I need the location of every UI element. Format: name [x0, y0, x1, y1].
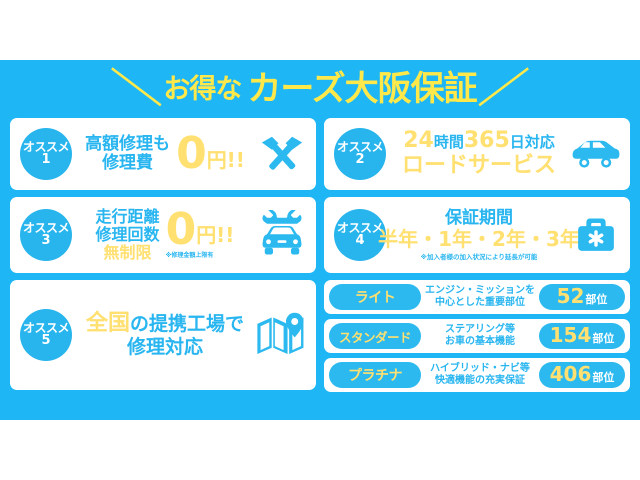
car-wrench-icon: [254, 210, 310, 260]
feature-4-line1: 保証期間: [378, 209, 580, 228]
crossed-hammers-icon: [254, 131, 310, 177]
feature-row-3: オススメ 5 全国の提携工場で 修理対応: [10, 280, 630, 392]
feature-2-line2: ロードサービス: [402, 154, 556, 179]
feature-row-1: オススメ 1 高額修理も 修理費 0 円!!: [10, 118, 630, 190]
feature-1-amount-number: 0: [176, 135, 207, 172]
plan-description-line2: 快適機能の充実保証: [425, 375, 535, 387]
feature-2-line1: 24時間365日対応: [402, 129, 556, 154]
feature-5-line1: 全国の提携工場で: [86, 312, 244, 337]
plan-row-standard[interactable]: スタンダード ステアリング等 お車の基本機能 154 部位: [324, 319, 630, 353]
feature-3-note: ※修理金額上限有: [166, 250, 214, 259]
badge-number: 1: [41, 153, 50, 167]
feature-card-1: オススメ 1 高額修理も 修理費 0 円!!: [10, 118, 316, 190]
feature-card-5: オススメ 5 全国の提携工場で 修理対応: [10, 280, 316, 390]
title-main: カーズ大阪保証: [247, 72, 476, 106]
feature-5-line1-rest: の提携工場で: [130, 313, 244, 335]
feature-3-text: 走行距離 修理回数 無制限: [96, 208, 160, 262]
recommend-badge-2: オススメ 2: [334, 128, 386, 180]
plan-coverage-count: 406 部位: [539, 362, 625, 388]
feature-card-5-body: 全国の提携工場で 修理対応: [76, 312, 254, 358]
plan-row-light[interactable]: ライト エンジン・ミッションを 中心とした重要部位 52 部位: [324, 280, 630, 314]
feature-2-hours: 24: [403, 128, 434, 153]
plan-description-line2: 中心とした重要部位: [425, 297, 535, 309]
plan-coverage-count: 154 部位: [539, 323, 625, 349]
feature-4-line2: 半年・1年・2年・3年: [378, 228, 580, 250]
feature-card-4-body: 保証期間 半年・1年・2年・3年 ※加入者様の加入状況により延長が可能: [390, 209, 568, 261]
feature-5-text: 全国の提携工場で 修理対応: [86, 312, 244, 358]
feature-card-4: オススメ 4 保証期間 半年・1年・2年・3年 ※加入者様の加入状況により延長が…: [324, 197, 630, 273]
feature-2-days: 365: [464, 128, 510, 153]
feature-1-line2: 修理費: [85, 154, 170, 173]
feature-card-1-body: 高額修理も 修理費 0 円!!: [76, 135, 254, 173]
toolbox-icon: [568, 213, 624, 257]
plan-name-badge[interactable]: ライト: [329, 284, 421, 310]
feature-4-note: ※加入者様の加入状況により延長が可能: [378, 254, 580, 261]
plan-row-platinum[interactable]: プラチナ ハイブリッド・ナビ等 快適機能の充実保証 406 部位: [324, 358, 630, 392]
feature-2-days-unit: 日対応: [510, 133, 555, 151]
map-pin-icon: [254, 312, 310, 358]
plan-list: ライト エンジン・ミッションを 中心とした重要部位 52 部位 スタンダード ス…: [324, 280, 630, 392]
plan-description: ステアリング等 お車の基本機能: [425, 324, 535, 348]
slash-right-decoration: ／: [476, 69, 529, 109]
plan-count-unit: 部位: [585, 291, 607, 307]
plan-name-badge[interactable]: プラチナ: [329, 362, 421, 388]
plan-count-number: 52: [557, 284, 585, 308]
feature-row-2: オススメ 3 走行距離 修理回数 無制限 0 円!! ※修理金額上限有: [10, 197, 630, 273]
feature-card-3-body: 走行距離 修理回数 無制限 0 円!! ※修理金額上限有: [76, 208, 254, 262]
feature-3-line2: 修理回数: [96, 226, 160, 244]
car-side-icon: [568, 137, 624, 171]
feature-3-amount-unit: 円!!: [196, 219, 234, 248]
plan-description-line1: ステアリング等: [425, 324, 535, 336]
badge-number: 4: [355, 234, 364, 248]
feature-grid: オススメ 1 高額修理も 修理費 0 円!!: [10, 118, 630, 392]
feature-1-amount: 0 円!!: [176, 135, 245, 172]
feature-card-2: オススメ 2 24時間365日対応 ロードサービス: [324, 118, 630, 190]
badge-number: 2: [355, 153, 364, 167]
recommend-badge-1: オススメ 1: [20, 128, 72, 180]
plan-count-unit: 部位: [592, 369, 614, 385]
feature-5-line2: 修理対応: [86, 337, 244, 358]
recommend-badge-5: オススメ 5: [20, 309, 72, 361]
feature-3-amount-number: 0: [166, 211, 197, 248]
feature-2-hours-unit: 時間: [434, 133, 464, 151]
plan-description-line2: お車の基本機能: [425, 336, 535, 348]
feature-1-line1: 高額修理も: [85, 135, 170, 154]
plan-name-badge[interactable]: スタンダード: [329, 323, 421, 349]
poster-title: ＼ お得な カーズ大阪保証 ／: [0, 60, 640, 118]
feature-card-2-body: 24時間365日対応 ロードサービス: [390, 129, 568, 178]
plan-description: エンジン・ミッションを 中心とした重要部位: [425, 285, 535, 309]
feature-2-text: 24時間365日対応 ロードサービス: [402, 129, 556, 178]
feature-5-nationwide: 全国: [86, 311, 130, 336]
plan-coverage-count: 52 部位: [539, 284, 625, 310]
plan-description-line1: ハイブリッド・ナビ等: [425, 363, 535, 375]
recommend-badge-3: オススメ 3: [20, 209, 72, 261]
plan-count-number: 406: [550, 362, 592, 386]
plan-description-line1: エンジン・ミッションを: [425, 285, 535, 297]
badge-number: 5: [41, 334, 50, 348]
plan-count-number: 154: [550, 323, 592, 347]
title-prefix: お得な: [163, 76, 241, 103]
badge-number: 3: [41, 234, 50, 248]
feature-3-line1: 走行距離: [96, 208, 160, 226]
slash-left-decoration: ＼: [111, 69, 164, 109]
feature-1-text: 高額修理も 修理費: [85, 135, 170, 173]
warranty-poster: ＼ お得な カーズ大阪保証 ／ オススメ 1 高額修理も 修理費: [0, 60, 640, 420]
feature-3-amount: 0 円!! ※修理金額上限有: [166, 211, 235, 259]
feature-card-3: オススメ 3 走行距離 修理回数 無制限 0 円!! ※修理金額上限有: [10, 197, 316, 273]
feature-1-amount-unit: 円!!: [207, 144, 245, 173]
feature-3-line3: 無制限: [96, 244, 160, 262]
feature-4-text: 保証期間 半年・1年・2年・3年 ※加入者様の加入状況により延長が可能: [378, 209, 580, 261]
plan-count-unit: 部位: [592, 330, 614, 346]
plan-description: ハイブリッド・ナビ等 快適機能の充実保証: [425, 363, 535, 387]
